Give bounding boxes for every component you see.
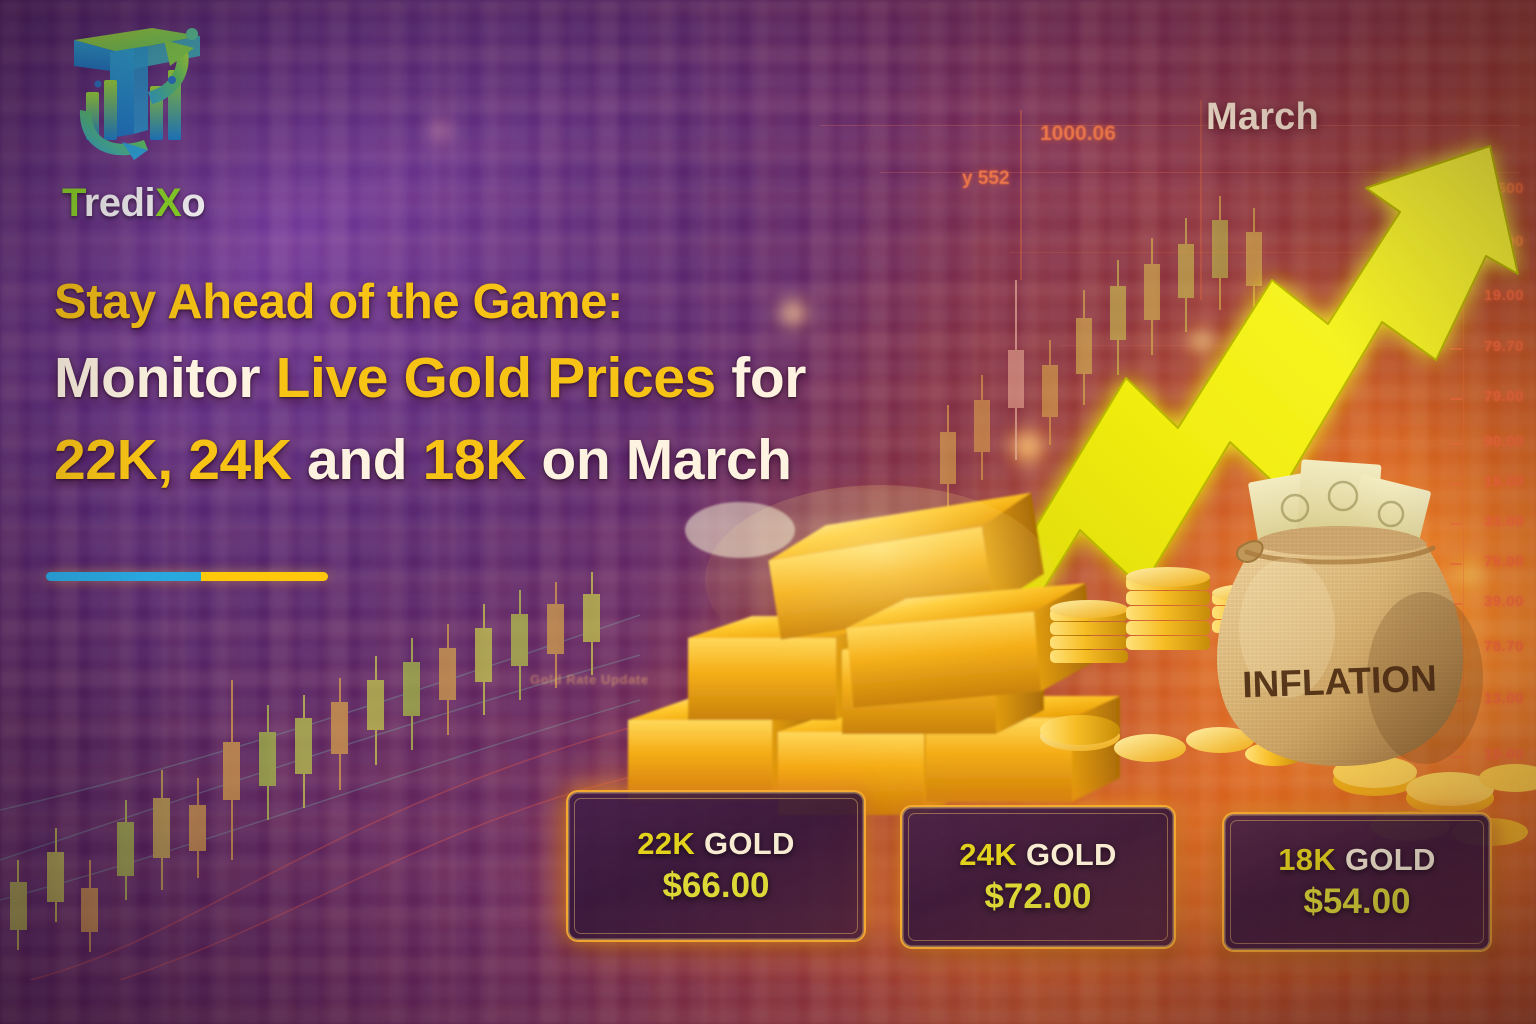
vignette-overlay bbox=[0, 0, 1536, 1024]
poster-canvas: 1000.06 y 552 March 39.500 79.00 19.00 7… bbox=[0, 0, 1536, 1024]
